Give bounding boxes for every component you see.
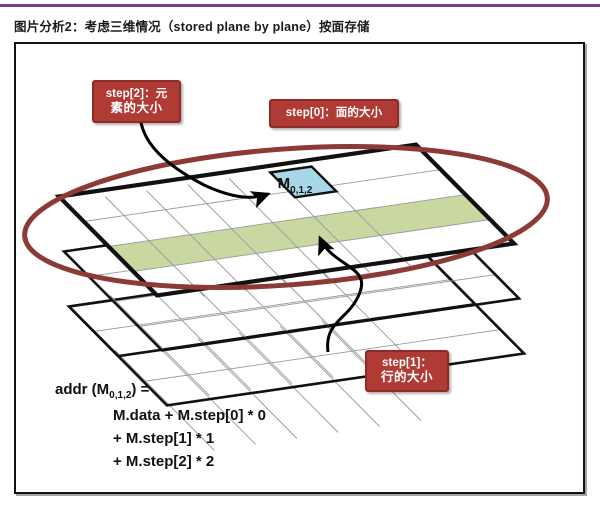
callout-step2[interactable]: step[2]：元 素的大小	[92, 80, 181, 123]
callout-step2-line2: 素的大小	[98, 101, 175, 115]
formula-line-2: + M.step[1] * 1	[113, 427, 385, 450]
formula-line-3: + M.step[2] * 2	[113, 450, 385, 473]
callout-step2-line1: step[2]：元	[98, 88, 175, 101]
page-root: 图片分析2：考虑三维情况（stored plane by plane）按面存储	[0, 0, 600, 510]
address-formula: addr (M0,1,2) = M.data + M.step[0] * 0 +…	[55, 378, 385, 473]
element-cell-label-sub: 0,1,2	[290, 185, 313, 196]
element-cell-label-base: M	[278, 175, 291, 192]
formula-head-prefix: addr (M	[55, 381, 109, 398]
formula-head-sub: 0,1,2	[109, 390, 131, 401]
formula-head: addr (M0,1,2) =	[55, 378, 385, 404]
formula-line-1: M.data + M.step[0] * 0	[113, 404, 385, 427]
callout-step0[interactable]: step[0]：面的大小	[269, 99, 399, 128]
callout-step0-line1: step[0]：面的大小	[275, 107, 393, 120]
callout-step1-line1: step[1]：	[371, 357, 443, 370]
page-title: 图片分析2：考虑三维情况（stored plane by plane）按面存储	[14, 16, 574, 35]
top-accent-rule	[0, 4, 600, 7]
formula-head-suffix: ) =	[131, 381, 149, 398]
